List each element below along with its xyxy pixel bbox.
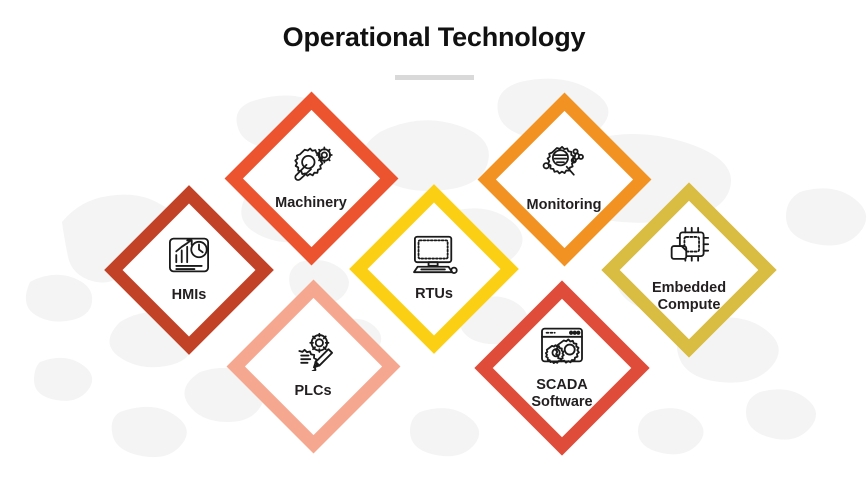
title-divider <box>395 75 474 80</box>
diamond-content: Machinery <box>252 143 370 212</box>
gear-pencil-icon <box>291 331 335 376</box>
diamond-node-embedded[interactable]: Embedded Compute <box>601 182 777 358</box>
diamond-label-rtus: RTUs <box>415 286 453 303</box>
diamond-label-hmis: HMIs <box>172 287 207 304</box>
diamond-label-monitoring: Monitoring <box>527 197 602 214</box>
diamond-label-embedded: Embedded Compute <box>652 280 726 314</box>
monitor-computer-icon <box>409 234 459 279</box>
magnifier-gear-network-icon <box>540 143 588 190</box>
diamond-label-machinery: Machinery <box>275 195 347 212</box>
diamond-content: SCADA Software <box>503 325 621 411</box>
diamond-content: Monitoring <box>505 143 623 214</box>
page-title: Operational Technology <box>0 22 868 53</box>
diamond-label-scada: SCADA Software <box>531 377 592 411</box>
infographic-canvas: Operational Technology HMIs Machinery <box>0 0 868 488</box>
diamond-content: PLCs <box>254 331 372 400</box>
gear-wrench-icon <box>287 143 335 188</box>
diamond-content: HMIs <box>130 235 248 304</box>
diamond-label-plcs: PLCs <box>294 383 331 400</box>
cpu-chip-icon <box>667 226 711 273</box>
diamond-content: RTUs <box>375 234 493 303</box>
dashboard-chart-clock-icon <box>167 235 211 280</box>
diamond-content: Embedded Compute <box>630 226 748 314</box>
browser-gears-icon <box>538 325 586 370</box>
